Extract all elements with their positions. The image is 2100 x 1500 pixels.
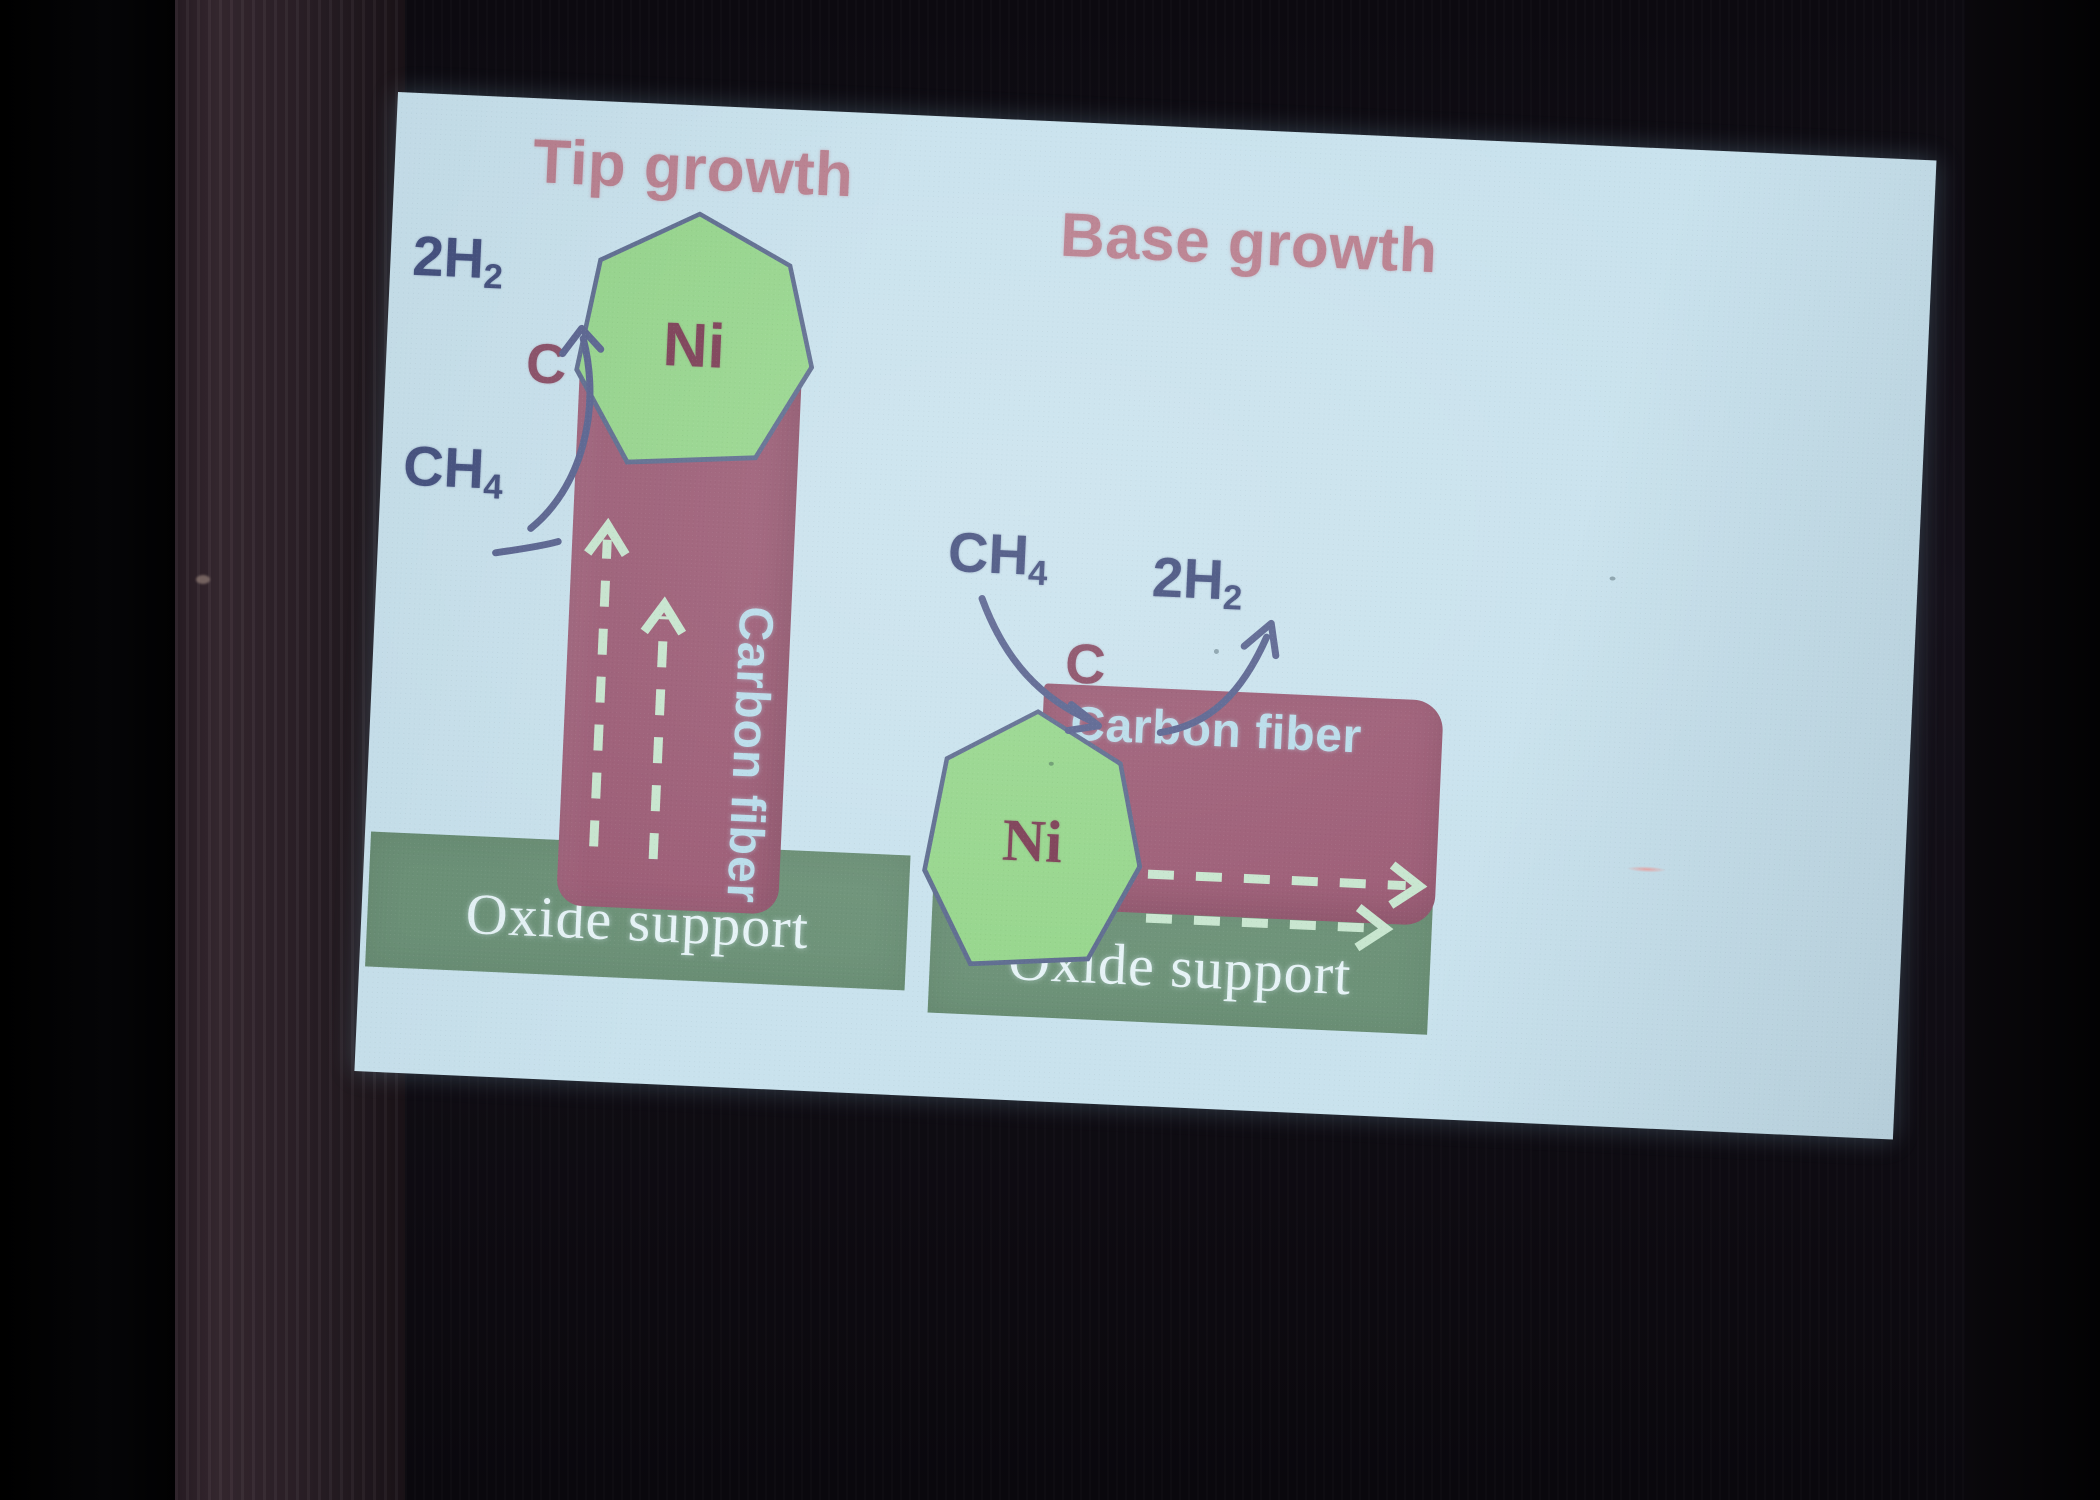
pillar-scuff-mark bbox=[196, 575, 210, 584]
panel-title-tip-growth: Tip growth bbox=[531, 126, 855, 211]
reaction-product-right: 2H2 bbox=[1150, 544, 1244, 619]
carbon-fiber-right-label: Carbon fiber bbox=[1069, 697, 1363, 765]
reaction-carbon-left: C bbox=[525, 330, 568, 397]
nickel-particle-right-label: Ni bbox=[1001, 805, 1064, 877]
screen-speck bbox=[1609, 576, 1615, 580]
reaction-reactant-left: CH4 bbox=[402, 433, 505, 508]
slide-surface: Tip growth Base growth Oxide support Car… bbox=[354, 92, 1936, 1140]
wall-right-shadow bbox=[1965, 0, 2100, 1500]
reaction-reactant-right: CH4 bbox=[946, 519, 1049, 594]
projected-slide-wrapper: Tip growth Base growth Oxide support Car… bbox=[354, 92, 1957, 1160]
nickel-particle-left-label: Ni bbox=[661, 309, 726, 383]
wall-left-shadow bbox=[0, 0, 175, 1500]
screen-speck bbox=[1214, 649, 1219, 654]
reaction-product-left: 2H2 bbox=[411, 223, 505, 298]
carbon-fiber-left-label: Carbon fiber bbox=[715, 605, 783, 905]
panel-title-base-growth: Base growth bbox=[1059, 200, 1439, 288]
reaction-carbon-right: C bbox=[1064, 630, 1107, 697]
photo-stage: Tip growth Base growth Oxide support Car… bbox=[0, 0, 2100, 1500]
